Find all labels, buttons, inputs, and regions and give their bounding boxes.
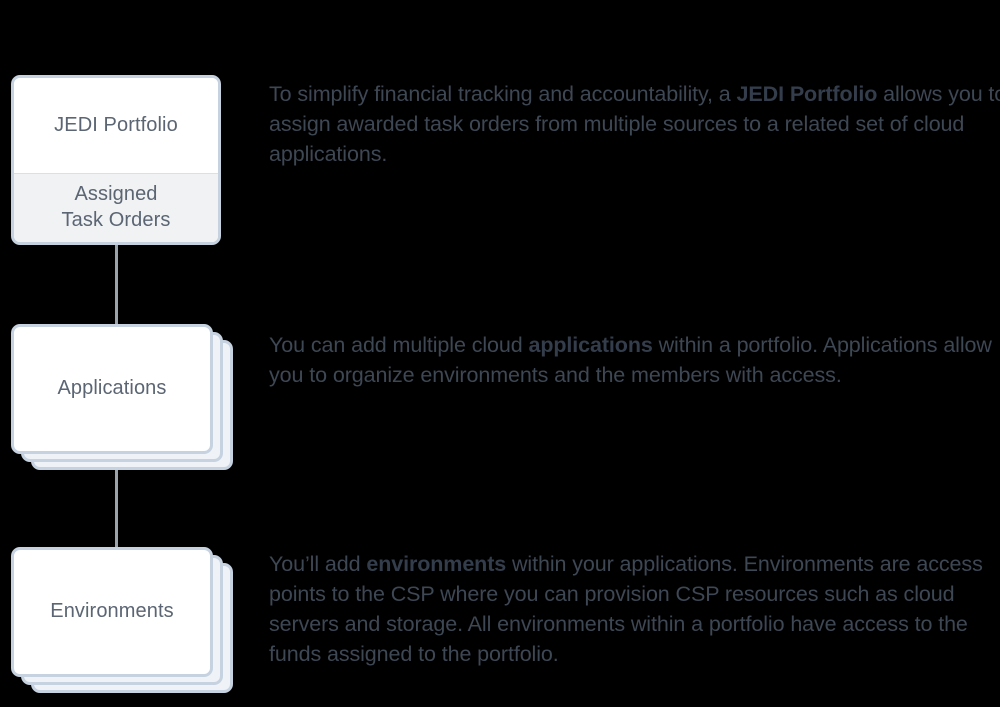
node-environments: Environments xyxy=(11,547,213,677)
applications-description-part-1: You can add multiple cloud xyxy=(269,333,528,357)
environments-description-emphasis: environments xyxy=(366,552,506,576)
node-jedi-portfolio-body: Assigned Task Orders xyxy=(14,174,218,242)
environments-description: You’ll add environments within your appl… xyxy=(269,549,1000,669)
assigned-task-orders-line-1: Assigned xyxy=(74,183,157,205)
node-jedi-portfolio-header: JEDI Portfolio xyxy=(14,78,218,173)
connector-applications-to-environments xyxy=(115,466,118,550)
node-applications: Applications xyxy=(11,324,213,454)
applications-description: You can add multiple cloud applications … xyxy=(269,330,1000,390)
applications-description-emphasis: applications xyxy=(528,333,652,357)
connector-portfolio-to-applications xyxy=(115,244,118,330)
portfolio-description: To simplify financial tracking and accou… xyxy=(269,79,1000,169)
node-jedi-portfolio-label: JEDI Portfolio xyxy=(54,113,178,139)
environments-description-part-1: You’ll add xyxy=(269,552,366,576)
portfolio-structure-diagram: JEDI Portfolio Assigned Task Orders Appl… xyxy=(0,0,1000,707)
node-jedi-portfolio: JEDI Portfolio Assigned Task Orders xyxy=(11,75,221,245)
assigned-task-orders-line-2: Task Orders xyxy=(62,209,171,231)
assigned-task-orders-label: Assigned Task Orders xyxy=(62,182,171,233)
node-environments-label: Environments xyxy=(50,599,173,625)
portfolio-description-emphasis: JEDI Portfolio xyxy=(737,82,878,106)
portfolio-description-part-1: To simplify financial tracking and accou… xyxy=(269,82,737,106)
node-applications-label: Applications xyxy=(57,376,166,402)
